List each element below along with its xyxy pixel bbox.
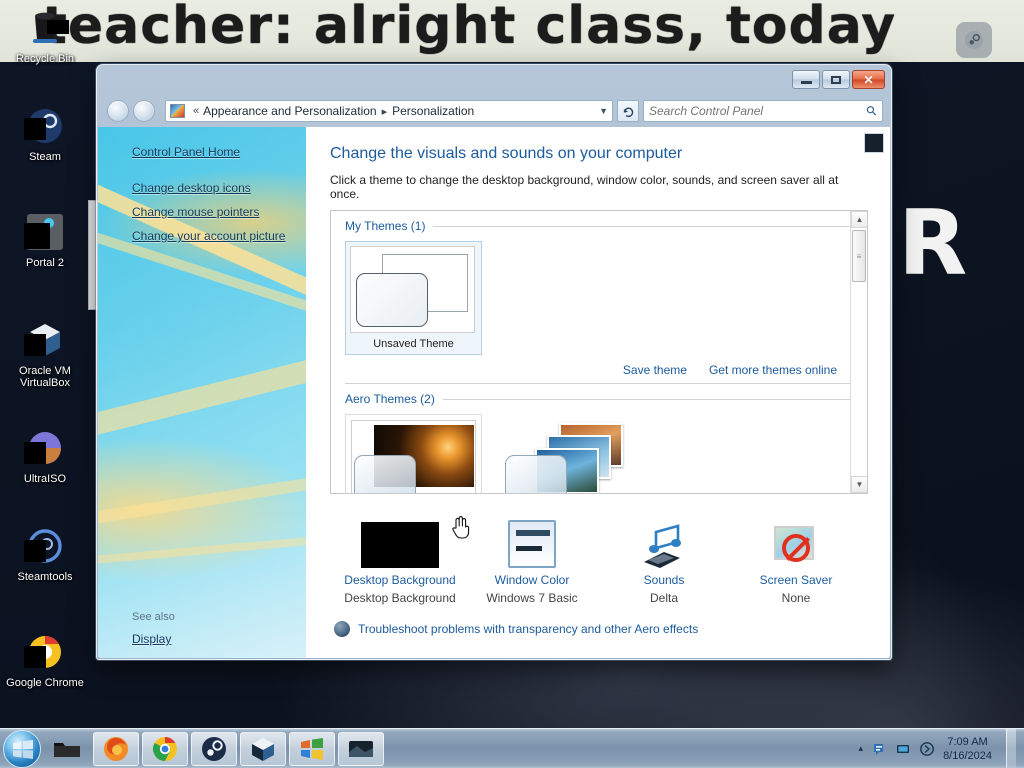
steam-overlay-badge[interactable] xyxy=(956,22,992,58)
taskbar[interactable]: ▴ 7:09 AM 8/16/2024 xyxy=(0,728,1024,768)
desktop-icon-oracle-vm-virtualbox[interactable]: Oracle VM VirtualBox xyxy=(2,318,88,389)
theme-item-aero-1[interactable] xyxy=(345,414,482,494)
taskbar-button-virtualbox[interactable] xyxy=(240,732,286,766)
action-center-icon[interactable] xyxy=(871,741,887,757)
theme-actions: Save theme Get more themes online xyxy=(331,355,867,383)
steam-icon xyxy=(963,29,985,51)
ultraiso-icon xyxy=(23,426,67,470)
thumbnail-window-front xyxy=(354,455,416,494)
theme-row: Unsaved Theme xyxy=(331,237,867,355)
page-title: Change the visuals and sounds on your co… xyxy=(330,145,868,163)
desktop-icon-label: Google Chrome xyxy=(2,677,88,689)
search-box[interactable]: ⚲ xyxy=(643,100,883,122)
search-input[interactable] xyxy=(649,104,867,118)
breadcrumb-item-appearance[interactable]: Appearance and Personalization xyxy=(203,104,376,118)
theme-group-title: Aero Themes (2) xyxy=(345,392,435,406)
setting-name[interactable]: Desktop Background xyxy=(334,568,466,587)
taskbar-button-control-panel[interactable] xyxy=(289,732,335,766)
steam-icon xyxy=(200,735,228,763)
troubleshoot-link[interactable]: Troubleshoot problems with transparency … xyxy=(358,622,698,636)
desktop-icon-label: Steamtools xyxy=(2,571,88,583)
clock-time: 7:09 AM xyxy=(943,735,992,749)
windows-logo-icon xyxy=(12,739,34,761)
setting-value: Desktop Background xyxy=(334,587,466,605)
wallpaper-ribbon xyxy=(98,345,306,449)
window-body: Control Panel Home Change desktop icons … xyxy=(98,127,890,658)
desktop-icon-steamtools[interactable]: Steamtools xyxy=(2,524,88,583)
steam-icon xyxy=(23,104,67,148)
theme-item-unsaved-theme[interactable]: Unsaved Theme xyxy=(345,241,482,355)
theme-group-title: My Themes (1) xyxy=(345,219,425,233)
address-bar[interactable]: « Appearance and Personalization ▸ Perso… xyxy=(165,100,613,122)
see-also-section: See also Display Taskbar and Start Menu … xyxy=(132,611,259,658)
desktop-icon-label: Oracle VM VirtualBox xyxy=(2,365,88,389)
mouse-cursor-hand-icon xyxy=(449,515,471,539)
window-controls: ✕ xyxy=(792,70,885,89)
desktop-icon-steam[interactable]: Steam xyxy=(2,104,88,163)
see-also-item-taskbar-and-start-menu[interactable]: Taskbar and Start Menu xyxy=(132,656,259,658)
setting-sounds[interactable]: Sounds Delta xyxy=(598,510,730,605)
taskbar-button-google-chrome[interactable] xyxy=(142,732,188,766)
taskbar-button-steam[interactable] xyxy=(191,732,237,766)
scroll-up-button[interactable]: ▲ xyxy=(851,211,868,228)
close-button[interactable]: ✕ xyxy=(852,70,885,89)
chrome-icon xyxy=(23,630,67,674)
theme-group-header-my-themes: My Themes (1) xyxy=(331,211,867,237)
window-titlebar[interactable]: ✕ xyxy=(97,65,891,95)
desktop-icon-label: Steam xyxy=(2,151,88,163)
troubleshoot-row: Troubleshoot problems with transparency … xyxy=(330,605,868,637)
page-subtitle: Click a theme to change the desktop back… xyxy=(330,173,868,201)
setting-value: Delta xyxy=(598,587,730,605)
windows-explorer-icon xyxy=(52,737,82,761)
wallpaper-ribbon xyxy=(98,530,306,567)
portal2-icon xyxy=(23,210,67,254)
start-button[interactable] xyxy=(3,730,41,768)
clock-date: 8/16/2024 xyxy=(943,749,992,763)
theme-item-aero-2[interactable] xyxy=(496,414,633,494)
divider xyxy=(443,399,855,400)
themes-scrollbar[interactable]: ▲ ≡ ▼ xyxy=(850,211,867,493)
volume-icon[interactable] xyxy=(919,741,935,757)
theme-thumbnail xyxy=(351,420,476,494)
firefox-icon xyxy=(102,735,130,763)
media-player-icon xyxy=(347,738,375,760)
setting-name[interactable]: Sounds xyxy=(598,568,730,587)
theme-thumbnail xyxy=(502,420,627,494)
sidebar-item-control-panel-home[interactable]: Control Panel Home xyxy=(132,145,306,159)
desktop-icon-label: UltraISO xyxy=(2,473,88,485)
show-desktop-button[interactable] xyxy=(1006,729,1016,768)
themes-list[interactable]: My Themes (1) Unsaved Theme Save theme G… xyxy=(330,210,868,494)
setting-name[interactable]: Window Color xyxy=(466,568,598,587)
theme-group-header-aero-themes: Aero Themes (2) xyxy=(331,384,867,410)
forward-button[interactable] xyxy=(133,100,155,122)
breadcrumb-overflow-chevron[interactable]: « xyxy=(189,105,203,117)
setting-value: None xyxy=(730,587,862,605)
desktop-icon-portal-2[interactable]: Portal 2 xyxy=(2,210,88,269)
network-icon[interactable] xyxy=(895,741,911,757)
theme-row xyxy=(331,410,867,494)
refresh-button[interactable] xyxy=(617,100,639,122)
sidebar-item-change-account-picture[interactable]: Change your account picture xyxy=(132,229,306,243)
chevron-down-icon: ▼ xyxy=(856,480,864,489)
wallpaper-letter-r: R xyxy=(898,208,967,280)
troubleshoot-icon xyxy=(334,621,350,637)
setting-screen-saver[interactable]: Screen Saver None xyxy=(730,510,862,605)
theme-label: Unsaved Theme xyxy=(350,333,477,350)
setting-desktop-background[interactable]: Desktop Background Desktop Background xyxy=(334,510,466,605)
setting-name[interactable]: Screen Saver xyxy=(730,568,862,587)
recycle-bin-icon xyxy=(23,6,67,50)
render-artifact-square xyxy=(864,133,884,153)
theme-thumbnail xyxy=(350,246,475,333)
thumbnail-window-front xyxy=(356,273,428,327)
sidebar: Control Panel Home Change desktop icons … xyxy=(98,127,306,658)
sidebar-item-change-desktop-icons[interactable]: Change desktop icons xyxy=(132,181,306,195)
see-also-heading: See also xyxy=(132,611,259,623)
thumbnail-window-front xyxy=(505,455,567,494)
maximize-button[interactable] xyxy=(822,70,850,89)
scrollbar-thumb[interactable]: ≡ xyxy=(852,230,866,282)
desktop-icon-recycle-bin[interactable]: Recycle Bin xyxy=(2,6,88,65)
save-theme-link[interactable]: Save theme xyxy=(623,363,687,377)
desktop-icon-ultraiso[interactable]: UltraISO xyxy=(2,426,88,485)
wallpaper-caption-text: teacher: alright class, today xyxy=(42,0,896,56)
desktop-icon-google-chrome[interactable]: Google Chrome xyxy=(2,630,88,689)
taskbar-button-firefox[interactable] xyxy=(93,732,139,766)
main-content: Change the visuals and sounds on your co… xyxy=(306,127,890,658)
chevron-up-icon: ▲ xyxy=(856,215,864,224)
setting-window-color[interactable]: Window Color Windows 7 Basic xyxy=(466,510,598,605)
show-hidden-icons-button[interactable]: ▴ xyxy=(859,743,864,754)
sidebar-links: Control Panel Home Change desktop icons … xyxy=(98,127,306,253)
breadcrumb-item-personalization[interactable]: Personalization xyxy=(392,104,474,118)
setting-value: Windows 7 Basic xyxy=(466,587,598,605)
scrollbar-grip-icon: ≡ xyxy=(857,252,862,261)
breadcrumb-separator-icon: ▸ xyxy=(377,105,393,118)
window-color-icon xyxy=(466,510,598,568)
navigation-bar: « Appearance and Personalization ▸ Perso… xyxy=(97,95,891,127)
control-panel-icon xyxy=(170,104,185,118)
taskbar-button-media-player[interactable] xyxy=(338,732,384,766)
screen-saver-icon xyxy=(730,510,862,568)
desktop-background-icon xyxy=(334,510,466,568)
refresh-icon xyxy=(622,105,635,118)
steamtools-icon xyxy=(23,524,67,568)
get-more-themes-online-link[interactable]: Get more themes online xyxy=(709,363,837,377)
sounds-icon xyxy=(598,510,730,568)
see-also-item-display[interactable]: Display xyxy=(132,632,259,646)
control-panel-window[interactable]: ✕ « Appearance and Personalization ▸ Per… xyxy=(96,64,892,660)
divider xyxy=(433,226,855,227)
desktop-icon-label: Portal 2 xyxy=(2,257,88,269)
control-panel-icon xyxy=(299,736,325,762)
chevron-down-icon[interactable]: ▼ xyxy=(593,106,608,116)
theme-settings-row: Desktop Background Desktop Background Wi… xyxy=(330,494,868,605)
virtualbox-icon xyxy=(249,735,277,763)
taskbar-button-windows-explorer[interactable] xyxy=(44,732,90,766)
clock[interactable]: 7:09 AM 8/16/2024 xyxy=(943,735,992,763)
desktop-icon-label: Recycle Bin xyxy=(2,53,88,65)
chrome-icon xyxy=(151,735,179,763)
back-button[interactable] xyxy=(107,100,129,122)
sidebar-item-change-mouse-pointers[interactable]: Change mouse pointers xyxy=(132,205,306,219)
virtualbox-icon xyxy=(23,318,67,362)
wallpaper-ribbon xyxy=(98,466,306,531)
minimize-button[interactable] xyxy=(792,70,820,89)
system-tray: ▴ 7:09 AM 8/16/2024 xyxy=(859,729,1024,768)
scroll-down-button[interactable]: ▼ xyxy=(851,476,868,493)
